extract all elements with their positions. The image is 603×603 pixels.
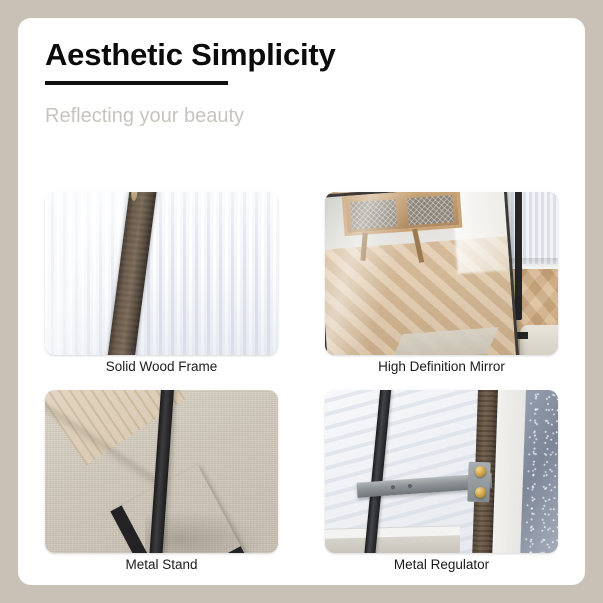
feature-cell-high-definition-mirror: High Definition Mirror [325, 192, 558, 378]
brass-screw-bottom [475, 487, 486, 498]
title-underline-rule [45, 81, 228, 85]
white-content-card: Aesthetic Simplicity Reflecting your bea… [18, 18, 585, 585]
feature-caption: Solid Wood Frame [45, 358, 278, 376]
mirror-stand-leg [515, 192, 522, 320]
feature-caption: Metal Stand [45, 556, 278, 574]
brass-screw-top [475, 466, 486, 477]
feature-image-metal-stand [45, 390, 278, 553]
feature-grid: Solid Wood Frame [45, 192, 558, 576]
mirror-glare [325, 192, 421, 355]
feature-caption: High Definition Mirror [325, 358, 558, 376]
feature-cell-metal-regulator: Metal Regulator [325, 390, 558, 576]
feature-image-high-definition-mirror [325, 192, 558, 355]
mirror-glass [325, 192, 519, 355]
feature-cell-solid-wood-frame: Solid Wood Frame [45, 192, 278, 378]
feature-caption: Metal Regulator [325, 556, 558, 574]
product-feature-card-page: Aesthetic Simplicity Reflecting your bea… [0, 0, 603, 603]
feature-image-metal-regulator [325, 390, 558, 553]
feature-cell-metal-stand: Metal Stand [45, 390, 278, 576]
page-subtitle: Reflecting your beauty [45, 104, 545, 128]
header: Aesthetic Simplicity Reflecting your bea… [45, 36, 545, 128]
feature-image-solid-wood-frame [45, 192, 278, 355]
page-title: Aesthetic Simplicity [45, 36, 545, 74]
